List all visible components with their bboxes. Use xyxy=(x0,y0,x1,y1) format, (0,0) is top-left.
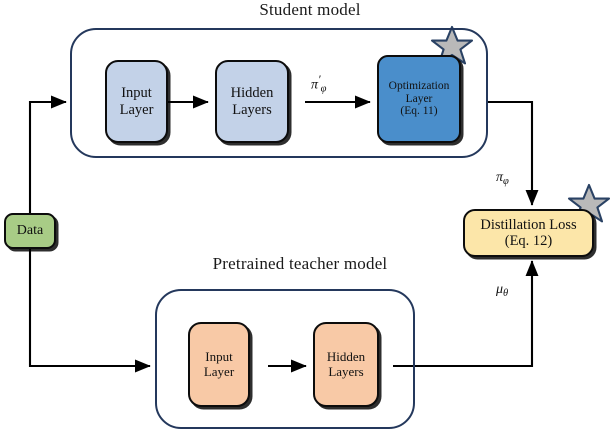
node-teacher-input-line2: Layer xyxy=(204,365,234,380)
wire-student-to-loss xyxy=(487,102,532,205)
node-distillation-loss[interactable]: Distillation Loss (Eq. 12) xyxy=(463,209,594,257)
node-loss-line1: Distillation Loss xyxy=(480,217,576,233)
node-teacher-input-layer[interactable]: Input Layer xyxy=(188,322,250,407)
student-model-title: Student model xyxy=(190,0,430,20)
node-student-input-line2: Layer xyxy=(120,102,154,118)
diagram-canvas: Student model Pretrained teacher model D… xyxy=(0,0,616,438)
node-loss-line2: (Eq. 12) xyxy=(505,233,553,249)
theta-subscript: θ xyxy=(503,288,508,299)
node-student-hidden-layers[interactable]: Hidden Layers xyxy=(215,60,289,143)
node-teacher-input-line1: Input xyxy=(205,350,232,365)
pi-symbol: π xyxy=(496,170,503,185)
phi-subscript: φ xyxy=(503,176,509,187)
node-optimization-layer[interactable]: Optimization Layer (Eq. 11) xyxy=(377,55,461,143)
node-student-hidden-line1: Hidden xyxy=(231,85,274,101)
teacher-model-title: Pretrained teacher model xyxy=(150,254,450,274)
phi-subscript: φ xyxy=(321,83,327,94)
node-optimization-line1: Optimization xyxy=(389,80,450,93)
edge-label-pi-phi: πφ xyxy=(496,170,509,187)
node-optimization-line3: (Eq. 11) xyxy=(400,105,437,118)
node-student-input-layer[interactable]: Input Layer xyxy=(105,60,168,143)
node-teacher-hidden-line2: Layers xyxy=(328,365,363,380)
node-student-hidden-line2: Layers xyxy=(232,102,271,118)
node-data-label: Data xyxy=(17,223,43,239)
edge-label-pi-prime-phi: π′φ xyxy=(311,72,326,94)
node-data[interactable]: Data xyxy=(4,213,56,249)
node-teacher-hidden-line1: Hidden xyxy=(327,350,365,365)
node-teacher-hidden-layers[interactable]: Hidden Layers xyxy=(313,322,379,407)
pi-symbol: π xyxy=(311,77,318,92)
mu-symbol: μ xyxy=(496,282,503,297)
edge-label-mu-theta: μθ xyxy=(496,282,508,299)
node-student-input-line1: Input xyxy=(121,85,152,101)
wire-data-to-student xyxy=(30,102,66,215)
wire-data-to-teacher xyxy=(30,248,150,366)
node-optimization-line2: Layer xyxy=(406,93,433,106)
